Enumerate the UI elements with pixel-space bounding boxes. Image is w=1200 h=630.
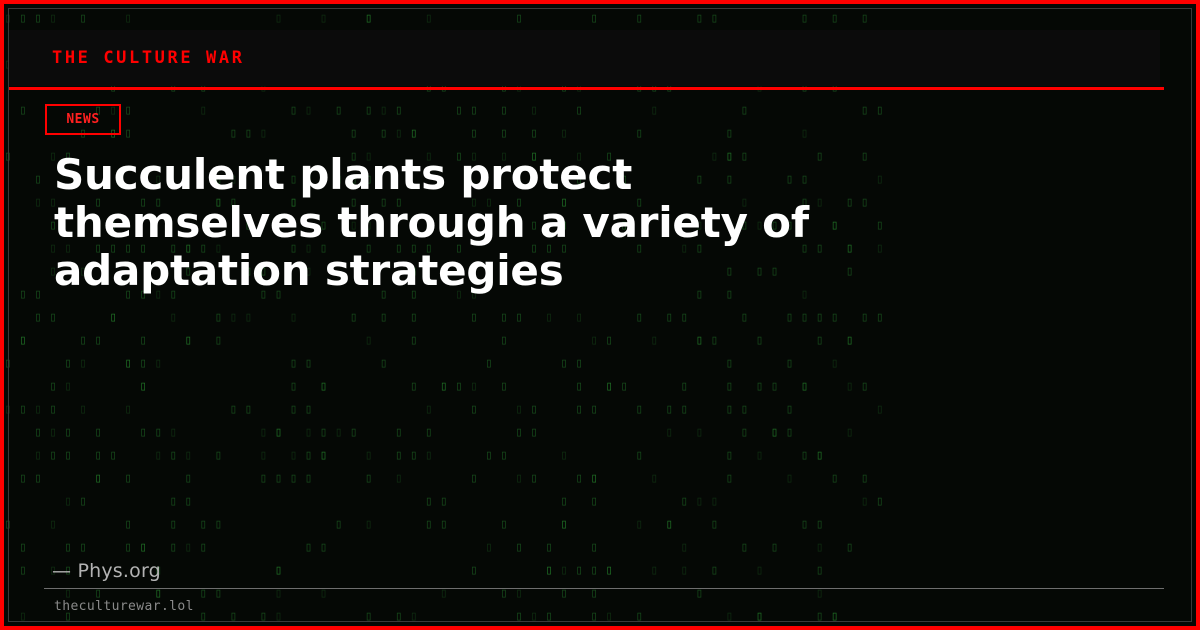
category-badge-news[interactable]: NEWS xyxy=(45,104,121,135)
card-header: THE CULTURE WAR xyxy=(8,30,1160,86)
brand-title: THE CULTURE WAR xyxy=(52,48,245,68)
header-divider xyxy=(8,87,1164,90)
category-badge-label: NEWS xyxy=(66,112,99,127)
article-source: — Phys.org xyxy=(52,560,161,582)
footer-divider xyxy=(44,588,1164,589)
site-url: theculturewar.lol xyxy=(54,599,194,614)
news-card: ▯▯▯▯▯▯▯▯▯▯▯▯▯▯▯▯▯▯▯▯▯▯▯▯▯▯▯▯▯▯▯▯▯▯▯▯▯▯▯▯… xyxy=(0,0,1200,630)
card-content: THE CULTURE WAR NEWS Succulent plants pr… xyxy=(4,4,1196,626)
article-headline: Succulent plants protect themselves thro… xyxy=(54,151,844,295)
